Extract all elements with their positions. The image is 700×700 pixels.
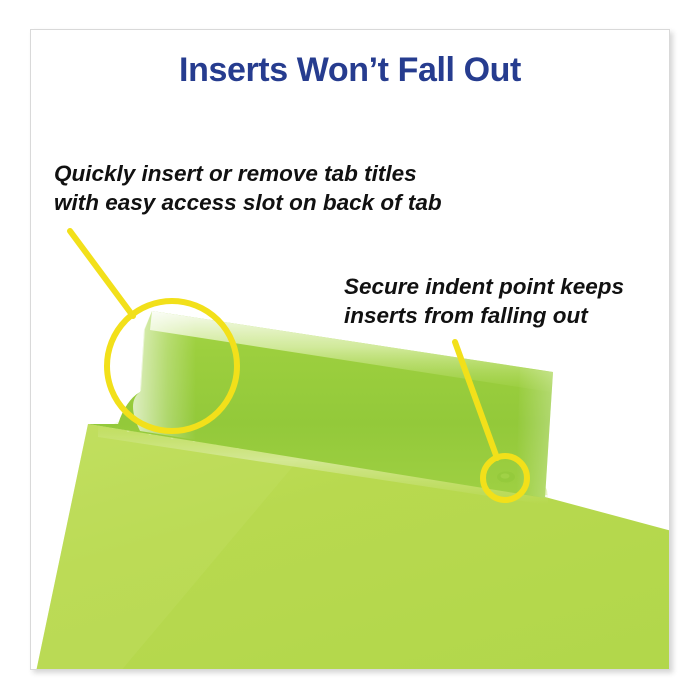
callout-left-line-1: Quickly insert or remove tab titles xyxy=(54,159,442,188)
photo-frame xyxy=(30,29,670,670)
callout-left-line-2: with easy access slot on back of tab xyxy=(54,188,442,217)
page-title: Inserts Won’t Fall Out xyxy=(0,51,700,90)
callout-access-slot: Quickly insert or remove tab titles with… xyxy=(54,159,442,217)
callout-right-line-2: inserts from falling out xyxy=(344,301,624,330)
product-image-canvas: Inserts Won’t Fall Out Quickly insert or… xyxy=(0,0,700,700)
callout-indent-point: Secure indent point keeps inserts from f… xyxy=(344,272,624,330)
callout-right-line-1: Secure indent point keeps xyxy=(344,272,624,301)
